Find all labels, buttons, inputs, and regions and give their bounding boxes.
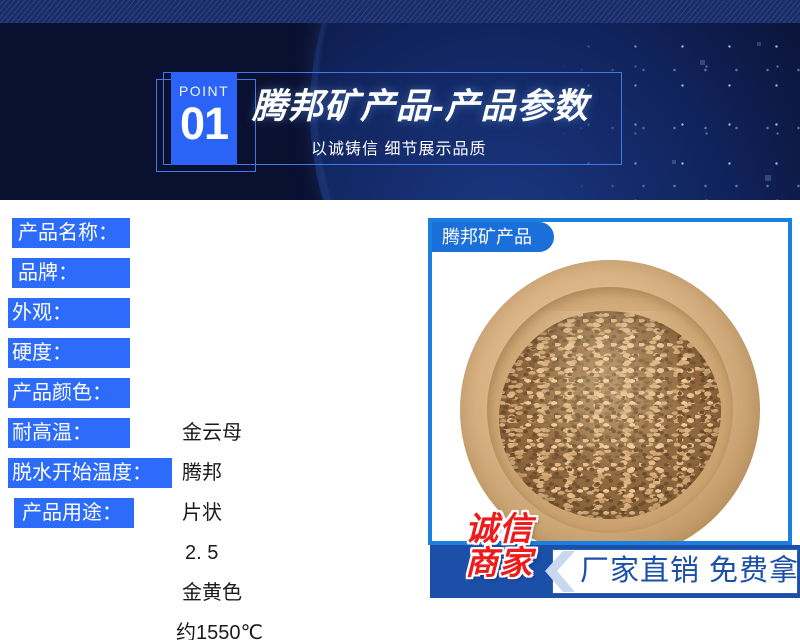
mica-flakes	[499, 311, 721, 519]
spec-value: 片状	[182, 498, 222, 528]
page-title: 腾邦矿产品-产品参数	[252, 78, 589, 129]
square-speck-decoration-1	[700, 60, 705, 65]
point-badge-number: 01	[171, 99, 237, 149]
product-photo-bowl	[460, 260, 760, 545]
point-badge: POINT 01	[171, 72, 237, 165]
spec-label: 品牌：	[12, 258, 130, 288]
top-stripe-band	[0, 0, 800, 23]
slogan-line-1: 诚信	[443, 512, 555, 546]
product-photo-tag: 腾邦矿产品	[432, 222, 554, 252]
mica-flakes-highlight	[499, 311, 721, 519]
square-speck-decoration-3	[765, 175, 771, 181]
spec-label: 产品名称：	[12, 218, 130, 248]
spec-label: 脱水开始温度：	[8, 458, 172, 488]
spec-value: 金黄色	[182, 578, 242, 608]
spec-label: 耐高温：	[8, 418, 130, 448]
promo-text: 厂家直销 免费拿样	[580, 549, 800, 594]
spec-label: 外观：	[8, 298, 130, 328]
spec-label: 硬度：	[8, 338, 130, 368]
bowl-interior	[487, 287, 733, 533]
page-subtitle: 以诚铸信 细节展示品质	[311, 135, 486, 159]
spec-value: 腾邦	[182, 458, 222, 488]
spec-value: 约1550℃	[176, 618, 263, 640]
spec-label: 产品颜色：	[8, 378, 130, 408]
page-header: POINT 01 腾邦矿产品-产品参数 以诚铸信 细节展示品质	[0, 0, 800, 200]
square-speck-decoration-2	[757, 42, 761, 46]
product-photo-frame	[428, 218, 792, 545]
product-spec-page: POINT 01 腾邦矿产品-产品参数 以诚铸信 细节展示品质 产品名称： 金云…	[0, 0, 800, 640]
slogan-line-2: 商家	[443, 546, 555, 580]
spec-label: 产品用途：	[14, 498, 134, 528]
trust-merchant-slogan: 诚信 商家	[443, 512, 555, 580]
spec-value: 2. 5	[185, 538, 218, 568]
spec-value: 金云母	[182, 418, 242, 448]
spec-table: 产品名称： 金云母 品牌： 腾邦 外观： 片状 硬度： 2. 5 产品颜色： 金…	[0, 200, 420, 640]
point-badge-word: POINT	[171, 83, 237, 99]
square-speck-decoration-4	[672, 160, 676, 164]
